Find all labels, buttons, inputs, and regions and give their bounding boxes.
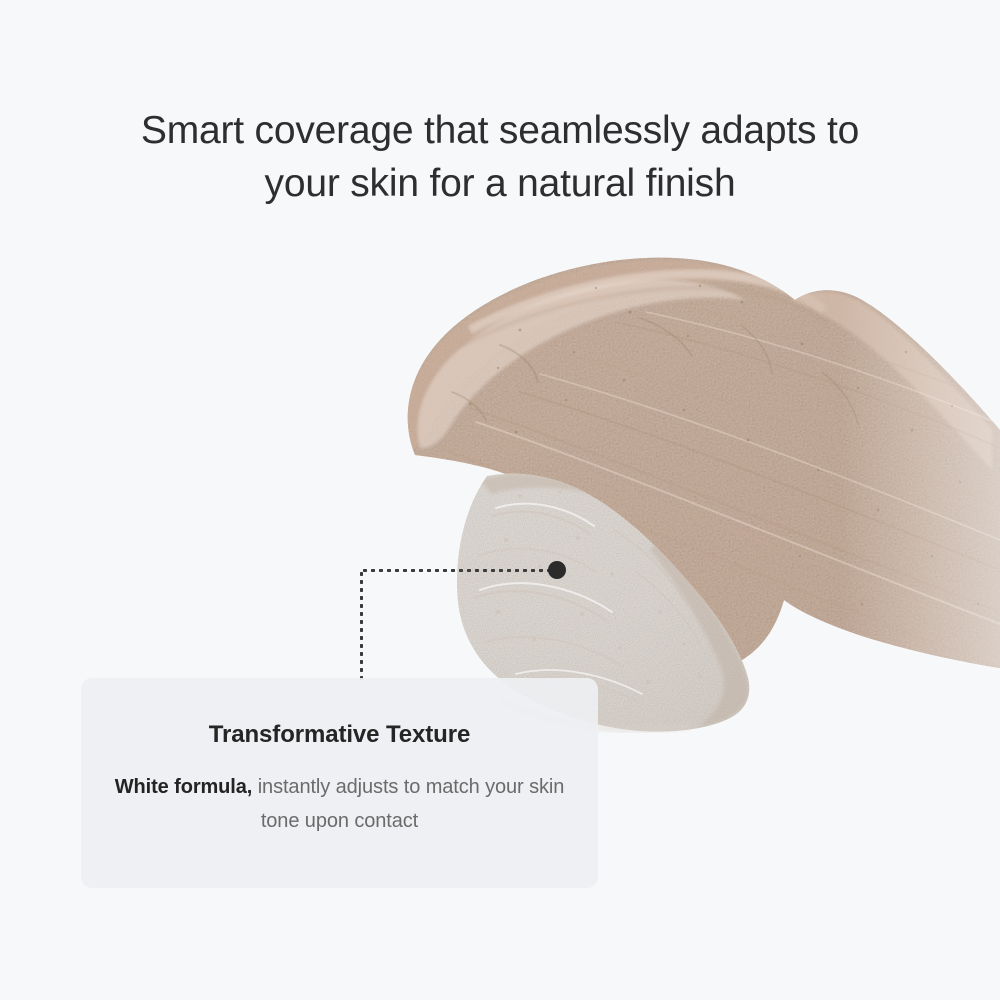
beige-smear [380, 240, 1000, 700]
feature-info-card: Transformative Texture White formula, in… [81, 678, 598, 888]
card-body-lead: White formula, [115, 776, 253, 798]
callout-line-vertical [360, 570, 363, 680]
product-feature-panel: Smart coverage that seamlessly adapts to… [0, 0, 1000, 1000]
callout-line-horizontal [361, 569, 561, 572]
headline-line-1: Smart coverage that seamlessly adapts to [0, 104, 1000, 157]
callout-marker-dot [548, 561, 566, 579]
speckles [469, 285, 979, 606]
headline-line-2: your skin for a natural finish [0, 157, 1000, 210]
card-body-rest: instantly adjusts to match your skin ton… [252, 776, 564, 832]
card-body: White formula, instantly adjusts to matc… [111, 770, 568, 838]
card-title: Transformative Texture [111, 720, 568, 750]
page-title: Smart coverage that seamlessly adapts to… [0, 104, 1000, 210]
